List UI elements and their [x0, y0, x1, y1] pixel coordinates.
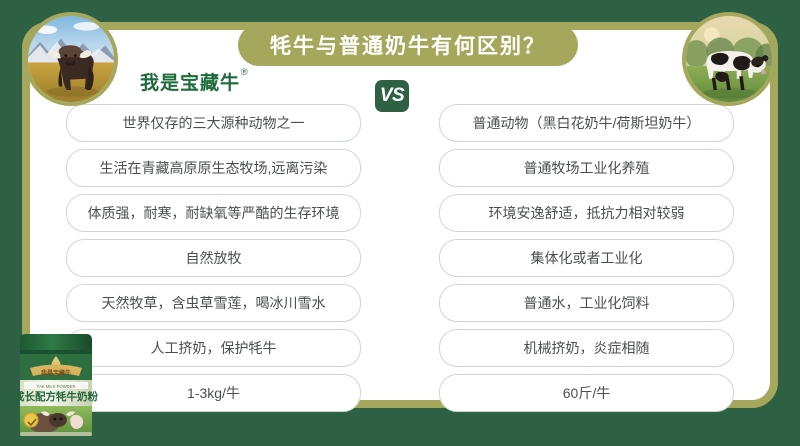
vs-badge: VS [375, 80, 409, 112]
yak-photo [24, 12, 118, 106]
table-row: 普通水，工业化饲料 [439, 284, 734, 322]
brand-logo: 我是宝藏牛 ® [140, 68, 248, 95]
table-row: 机械挤奶，炎症相随 [439, 329, 734, 367]
brand-name: 我是宝藏牛 [140, 68, 240, 95]
page-title: 牦牛与普通奶牛有何区别？ [270, 30, 546, 60]
table-row: 环境安逸舒适，抵抗力相对较弱 [439, 194, 734, 232]
registered-trademark-icon: ® [241, 67, 248, 77]
table-row: 普通动物（黑白花奶牛/荷斯坦奶牛） [439, 104, 734, 142]
dairy-cow-photo-illustration [686, 16, 772, 102]
table-row: 60斤/牛 [439, 374, 734, 412]
title-banner: 牦牛与普通奶牛有何区别？ [238, 24, 578, 66]
product-can-brand: 我是宝藏牛 [41, 369, 71, 377]
product-can-subtitle: YAK MILK POWDER [36, 384, 75, 389]
table-row: 世界仅存的三大源种动物之一 [66, 104, 361, 142]
table-row: 自然放牧 [66, 239, 361, 277]
table-row: 生活在青藏高原原生态牧场,远离污染 [66, 149, 361, 187]
table-row: 天然牧草，含虫草雪莲，喝冰川雪水 [66, 284, 361, 322]
table-row: 集体化或者工业化 [439, 239, 734, 277]
vs-label: VS [380, 85, 404, 107]
yak-column: 世界仅存的三大源种动物之一 生活在青藏高原原生态牧场,远离污染 体质强，耐寒，耐… [66, 104, 361, 412]
footer-strip [0, 430, 800, 446]
product-can-image: 我是宝藏牛 YAK MILK POWDER 成长配方牦牛奶粉 [14, 328, 98, 440]
yak-photo-illustration [28, 16, 114, 102]
product-can-title: 成长配方牦牛奶粉 [14, 390, 98, 403]
dairy-cow-column: 普通动物（黑白花奶牛/荷斯坦奶牛） 普通牧场工业化养殖 环境安逸舒适，抵抗力相对… [439, 104, 734, 412]
dairy-cow-photo [682, 12, 776, 106]
product-can-illustration: 我是宝藏牛 YAK MILK POWDER 成长配方牦牛奶粉 [14, 328, 98, 440]
table-row: 人工挤奶，保护牦牛 [66, 329, 361, 367]
table-row: 1-3kg/牛 [66, 374, 361, 412]
poster-root: 牦牛与普通奶牛有何区别？ 我是宝藏牛 ® VS 世界仅存的三大源种动物之一 生活… [0, 0, 800, 446]
comparison-table: 世界仅存的三大源种动物之一 生活在青藏高原原生态牧场,远离污染 体质强，耐寒，耐… [22, 104, 778, 412]
table-row: 体质强，耐寒，耐缺氧等严酷的生存环境 [66, 194, 361, 232]
table-row: 普通牧场工业化养殖 [439, 149, 734, 187]
